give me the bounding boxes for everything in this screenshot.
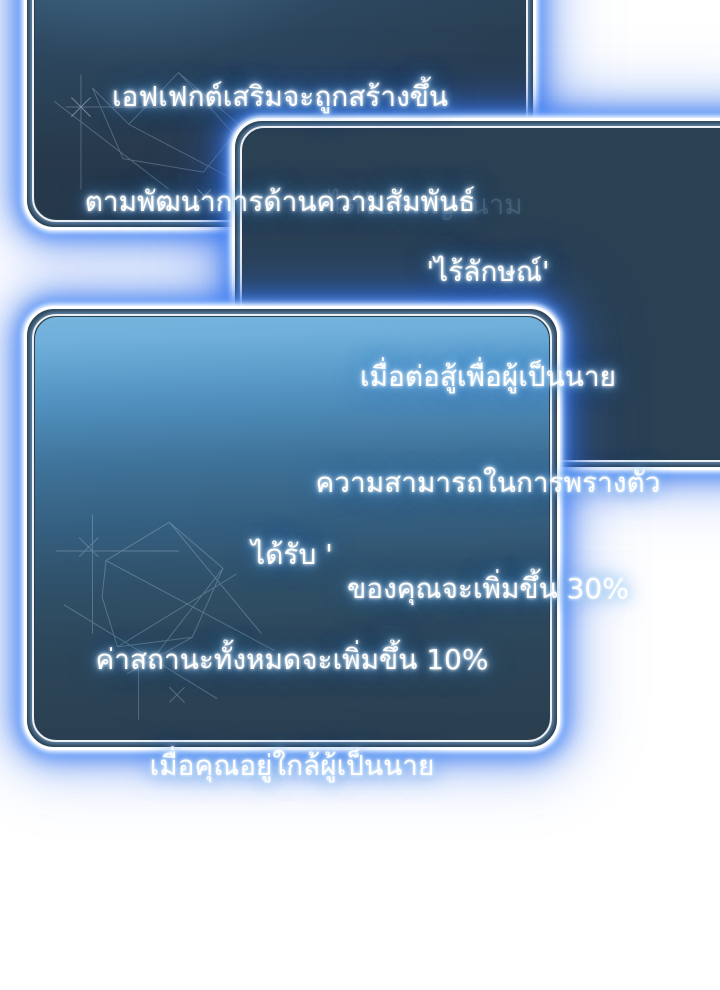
- panel-3-inner: [35, 317, 549, 739]
- panel-3-line-3: เมื่อคุณอยู่ใกล้ผู้เป็นนาย: [30, 748, 554, 783]
- panel-3-line-decor: [35, 317, 549, 739]
- comic-panel-stage: ได้รับสมญานาม พลังแห่งพันธะ เอฟเฟกต์: [0, 0, 720, 990]
- proximity-stat-panel: [24, 306, 560, 750]
